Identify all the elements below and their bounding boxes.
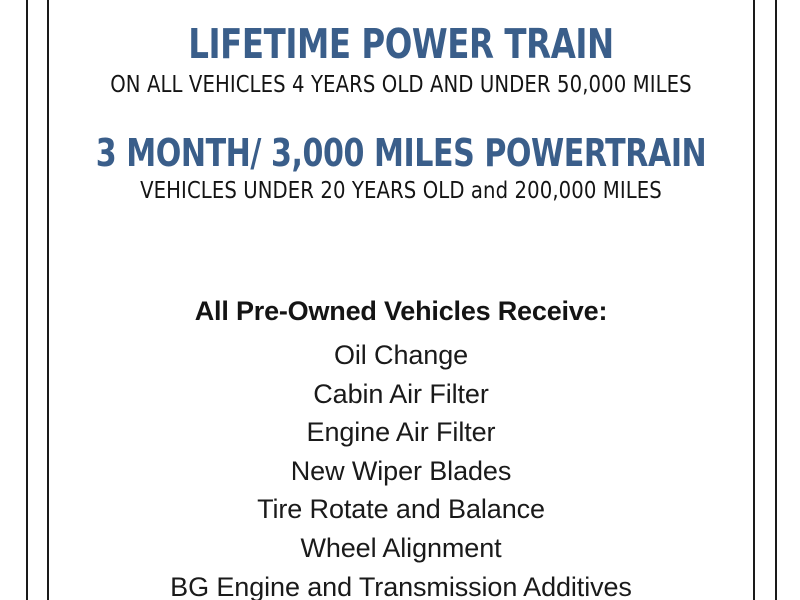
- service-item: Oil Change: [49, 336, 753, 375]
- services-heading: All Pre-Owned Vehicles Receive:: [49, 298, 753, 325]
- frame-rule-left-outer: [26, 0, 28, 600]
- warranty-subline-three-month: VEHICLES UNDER 20 YEARS OLD and 200,000 …: [74, 178, 729, 204]
- flyer-content: LIFETIME POWER TRAIN ON ALL VEHICLES 4 Y…: [49, 0, 753, 600]
- warranty-headline-lifetime: LIFETIME POWER TRAIN: [91, 24, 711, 66]
- service-item: BG Engine and Transmission Additives: [49, 568, 753, 600]
- frame-rule-right-outer: [775, 0, 777, 600]
- flyer-page: LIFETIME POWER TRAIN ON ALL VEHICLES 4 Y…: [0, 0, 800, 600]
- warranty-headline-three-month: 3 MONTH/ 3,000 MILES POWERTRAIN: [91, 134, 711, 173]
- services-list: Oil Change Cabin Air Filter Engine Air F…: [49, 336, 753, 600]
- service-item: Engine Air Filter: [49, 413, 753, 452]
- service-item: Tire Rotate and Balance: [49, 490, 753, 529]
- warranty-block-three-month: 3 MONTH/ 3,000 MILES POWERTRAIN VEHICLES…: [49, 98, 753, 205]
- service-item: Wheel Alignment: [49, 529, 753, 568]
- warranty-subline-lifetime: ON ALL VEHICLES 4 YEARS OLD AND UNDER 50…: [74, 72, 729, 98]
- services-section: All Pre-Owned Vehicles Receive: Oil Chan…: [49, 298, 753, 600]
- service-item: New Wiper Blades: [49, 452, 753, 491]
- frame-rule-right-inner: [753, 0, 755, 600]
- warranty-block-lifetime: LIFETIME POWER TRAIN ON ALL VEHICLES 4 Y…: [49, 0, 753, 98]
- service-item: Cabin Air Filter: [49, 375, 753, 414]
